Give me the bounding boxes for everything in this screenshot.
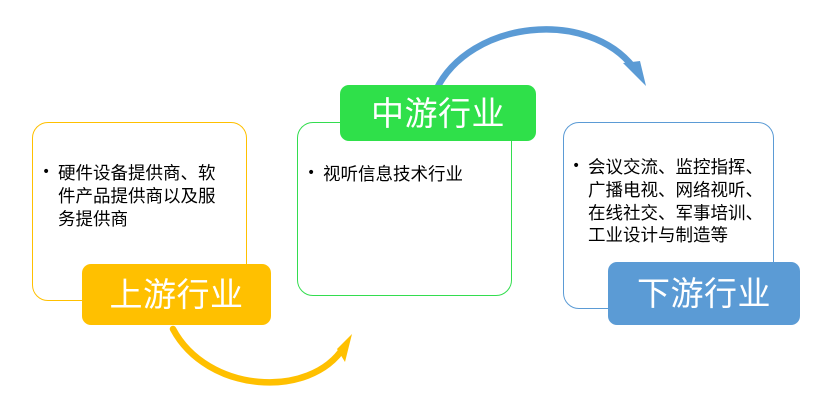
diagram-canvas: 硬件设备提供商、软 件产品提供商以及服 务提供商 上游行业 视听信息技术行业 中… <box>0 0 819 417</box>
downstream-bullet-item: 会议交流、监控指挥、 广播电视、网络视听、 在线社交、军事培训、 工业设计与制造… <box>571 157 763 248</box>
midstream-stage-tab-label: 中游行业 <box>371 97 505 130</box>
connector-upstream-to-midstream-icon <box>173 329 352 382</box>
upstream-stage-tab-label: 上游行业 <box>110 278 244 311</box>
downstream-bullet-line-1: 会议交流、监控指挥、 <box>588 158 763 178</box>
midstream-content-box <box>297 122 512 296</box>
downstream-stage-tab-label: 下游行业 <box>637 277 771 310</box>
downstream-stage-tab[interactable]: 下游行业 <box>608 262 800 325</box>
upstream-bullet-line-2: 件产品提供商以及服 <box>58 186 216 209</box>
midstream-stage-tab[interactable]: 中游行业 <box>340 85 536 141</box>
midstream-bullet-line-1: 视听信息技术行业 <box>323 165 463 185</box>
midstream-bullet-list: 视听信息技术行业 <box>306 164 463 187</box>
midstream-bullet-item: 视听信息技术行业 <box>306 164 463 187</box>
downstream-bullet-line-4: 工业设计与制造等 <box>588 226 728 246</box>
downstream-bullet-list: 会议交流、监控指挥、 广播电视、网络视听、 在线社交、军事培训、 工业设计与制造… <box>571 157 763 248</box>
connector-midstream-to-downstream-icon <box>436 29 646 90</box>
upstream-bullet-list: 硬件设备提供商、软 件产品提供商以及服 务提供商 <box>41 163 216 231</box>
downstream-bullet-line-2: 广播电视、网络视听、 <box>588 181 763 201</box>
upstream-stage-tab[interactable]: 上游行业 <box>82 264 271 325</box>
upstream-bullet-line-3: 务提供商 <box>58 210 128 230</box>
upstream-bullet-item: 硬件设备提供商、软 件产品提供商以及服 务提供商 <box>41 163 216 231</box>
upstream-bullet-line-1: 硬件设备提供商、软 <box>58 164 216 184</box>
downstream-bullet-line-3: 在线社交、军事培训、 <box>588 204 763 224</box>
